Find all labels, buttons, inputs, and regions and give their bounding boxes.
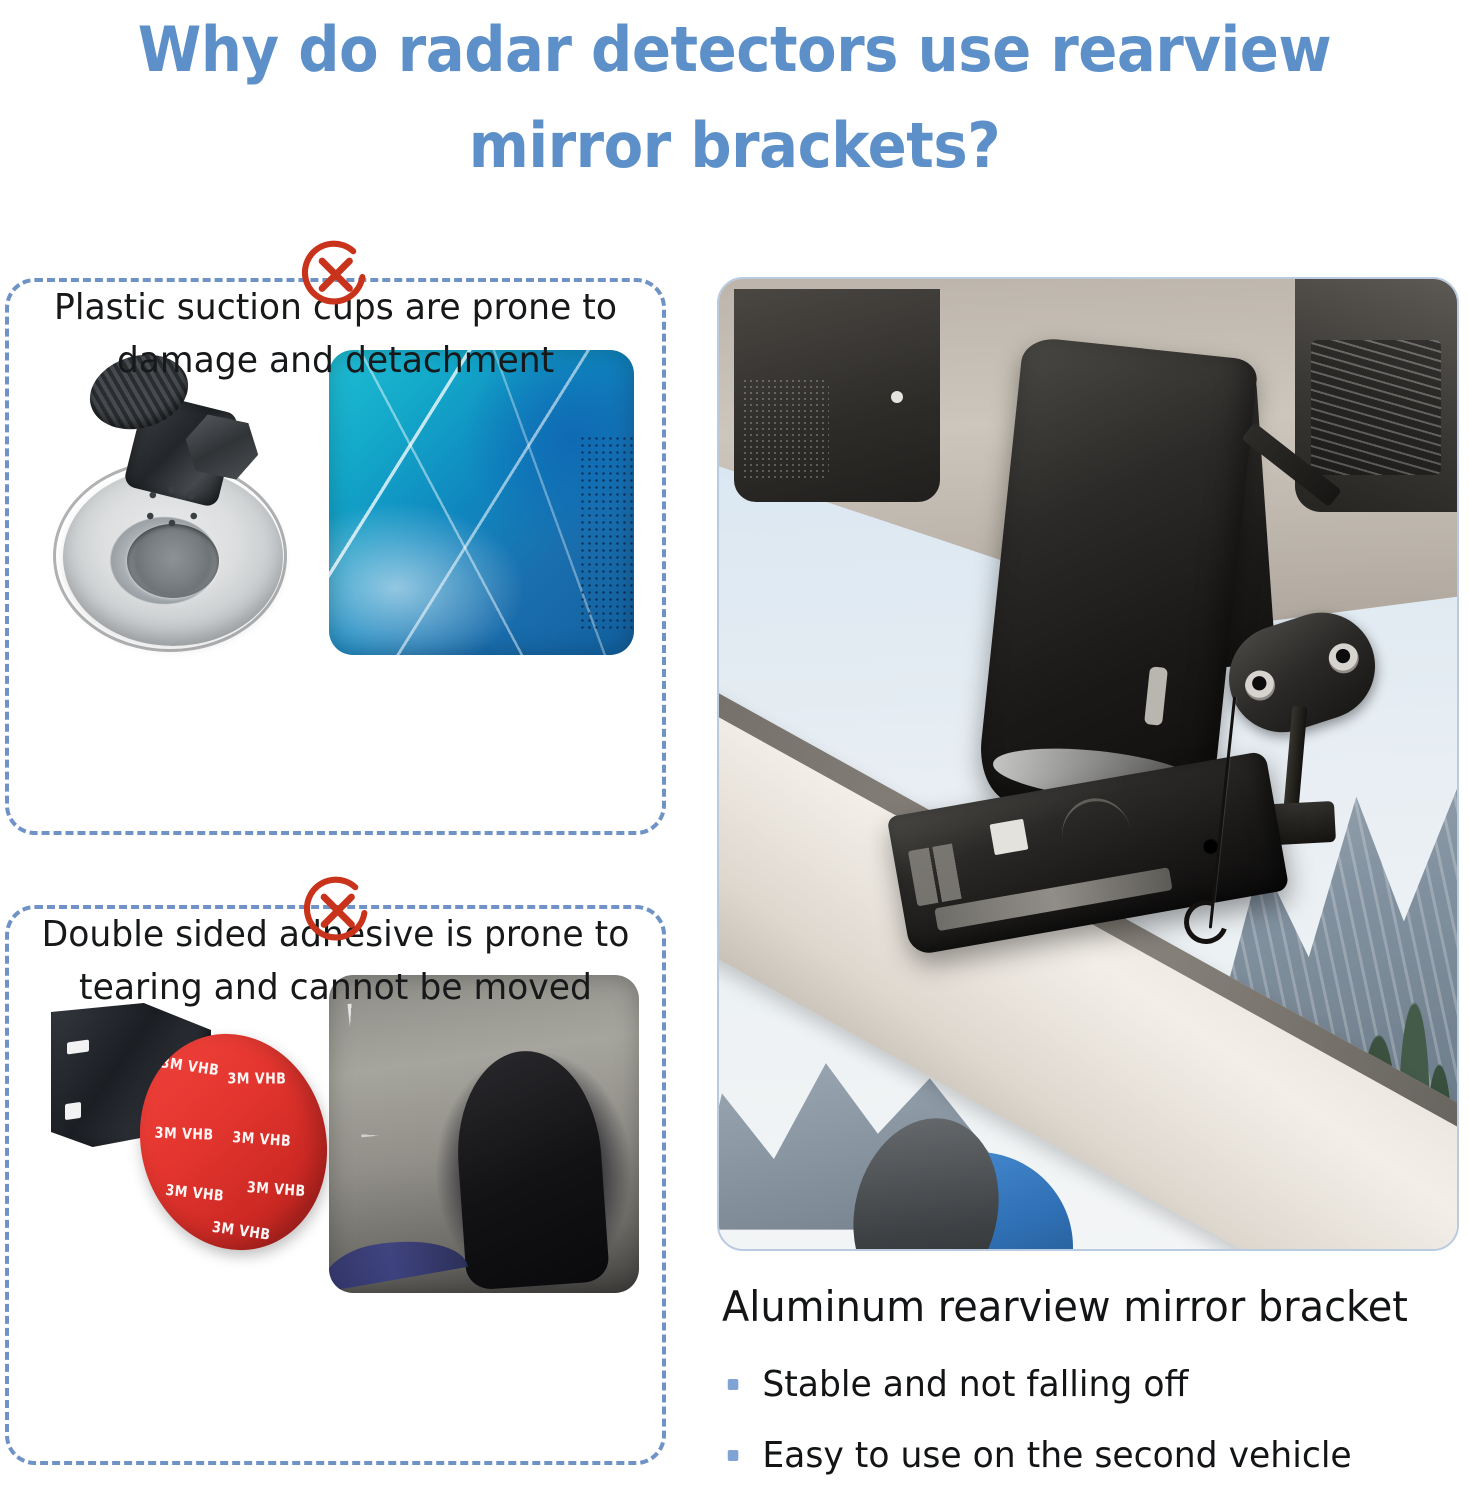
- suction-caption-line-2: damage and detachment: [22, 335, 649, 388]
- rearview-mirror: [976, 336, 1260, 824]
- list-item: Stable and not falling off: [722, 1363, 1432, 1406]
- suction-cup-photo: [47, 350, 297, 650]
- vhb-label: 3M VHB: [211, 1218, 272, 1244]
- hero-benefit-list: Stable and not falling off Easy to use o…: [722, 1363, 1462, 1505]
- detached-adhesive-photo: [329, 975, 639, 1293]
- adhesive-card-media-row: 3M VHB 3M VHB 3M VHB 3M VHB 3M VHB 3M VH…: [31, 969, 646, 1299]
- hero-heading: Aluminum rearview mirror bracket: [722, 1284, 1430, 1330]
- negative-card-double-sided-adhesive: 3M VHB 3M VHB 3M VHB 3M VHB 3M VHB 3M VH…: [5, 905, 666, 1465]
- list-item: Easy to use on the second vehicle: [722, 1434, 1432, 1477]
- adhesive-caption-line-2: tearing and cannot be moved: [22, 962, 649, 1015]
- vhb-label: 3M VHB: [232, 1128, 292, 1150]
- vhb-label: 3M VHB: [228, 1069, 287, 1087]
- vhb-label: 3M VHB: [165, 1181, 225, 1205]
- adhesive-bracket-photo: 3M VHB 3M VHB 3M VHB 3M VHB 3M VHB 3M VH…: [43, 981, 343, 1281]
- hero-bullet-label: Easy to use on the second vehicle: [762, 1435, 1351, 1476]
- vhb-label: 3M VHB: [160, 1053, 221, 1079]
- bullet-icon: [728, 1379, 739, 1390]
- suction-card-media-row: [31, 340, 646, 660]
- negative-card-suction-cup: Plastic suction cups are prone to damage…: [5, 278, 666, 835]
- page-title: Why do radar detectors use rearview mirr…: [98, 2, 1371, 194]
- cracked-windshield-photo: [329, 350, 634, 655]
- circled-x-icon: [299, 872, 375, 948]
- overhead-console: [734, 289, 941, 502]
- bullet-icon: [728, 1450, 739, 1461]
- hero-bullet-label: Stable and not falling off: [762, 1364, 1188, 1405]
- hero-product-photo: [717, 277, 1459, 1251]
- circled-x-icon: [297, 236, 373, 312]
- vhb-label: 3M VHB: [246, 1178, 306, 1200]
- vhb-label: 3M VHB: [154, 1124, 213, 1144]
